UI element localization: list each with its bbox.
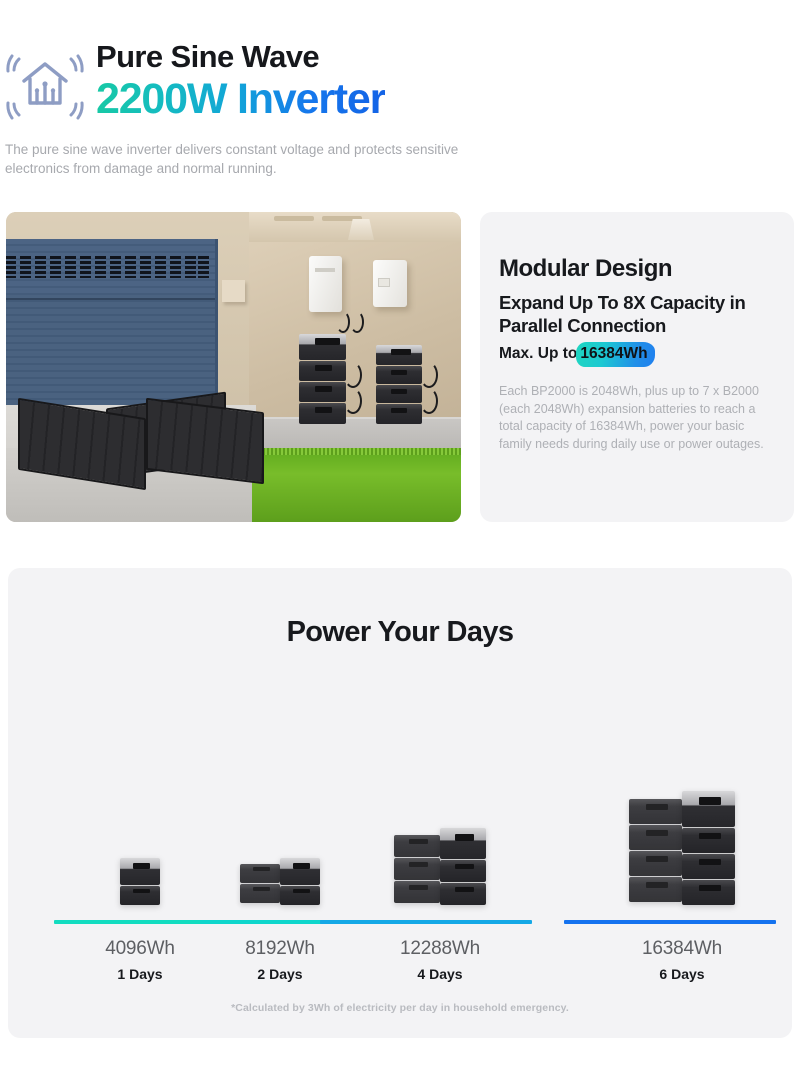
solar-panel-middle	[146, 398, 264, 484]
battery-unit	[440, 860, 486, 882]
garage-door-vents	[6, 256, 210, 278]
battery-display	[133, 889, 150, 893]
battery-stack-group	[562, 791, 800, 906]
battery-unit	[629, 851, 682, 876]
max-capacity-prefix: Max. Up to	[499, 345, 577, 363]
battery-unit	[682, 854, 735, 879]
capacity-bar	[320, 920, 532, 924]
battery-display	[253, 887, 270, 891]
modular-heading: Modular Design	[499, 255, 672, 283]
battery-display	[409, 885, 428, 890]
battery-unit	[240, 884, 280, 903]
power-days-footnote: *Calculated by 3Wh of electricity per da…	[8, 1002, 792, 1014]
battery-display	[133, 863, 150, 869]
hero-section: Pure Sine Wave 2200W Inverter The pure s…	[0, 0, 800, 200]
modular-design-card: Modular Design Expand Up To 8X Capacity …	[480, 212, 794, 522]
battery-stack-indoor-a	[299, 334, 346, 424]
battery-stack	[394, 835, 440, 904]
modular-subheading: Expand Up To 8X Capacity in Parallel Con…	[499, 291, 789, 337]
wall-inverter-secondary	[373, 260, 407, 307]
battery-stack	[440, 828, 486, 906]
battery-display	[455, 834, 474, 841]
modular-body-text: Each BP2000 is 2048Wh, plus up to 7 x B2…	[499, 383, 771, 453]
battery-display	[409, 862, 428, 867]
capacity-group: 16384Wh6 Days	[562, 787, 800, 920]
battery-unit	[682, 880, 735, 905]
battery-display	[646, 804, 668, 810]
battery-display	[699, 797, 721, 805]
battery-unit	[120, 886, 160, 905]
max-capacity-line: Max. Up to 16384Wh	[499, 345, 648, 363]
hero-title-block: Pure Sine Wave 2200W Inverter	[96, 38, 385, 124]
garage-door	[6, 239, 218, 405]
capacity-bar	[564, 920, 776, 924]
battery-display	[699, 885, 721, 891]
battery-display	[699, 859, 721, 865]
hero-title-line2: 2200W Inverter	[96, 74, 385, 124]
battery-display	[646, 882, 668, 888]
battery-unit	[440, 883, 486, 905]
max-capacity-highlight: 16384Wh	[580, 345, 647, 363]
battery-display	[293, 889, 310, 893]
battery-unit	[629, 799, 682, 824]
lifestyle-photo	[6, 212, 461, 522]
battery-unit	[394, 858, 440, 880]
battery-stack-indoor-b	[376, 345, 422, 424]
battery-display	[455, 887, 474, 892]
capacity-days-label: 4 Days	[320, 966, 560, 982]
battery-unit	[120, 858, 160, 885]
battery-unit	[440, 828, 486, 859]
smart-home-signal-icon	[6, 46, 84, 128]
hero-title-line1: Pure Sine Wave	[96, 38, 385, 76]
battery-unit	[394, 835, 440, 857]
hero-description: The pure sine wave inverter delivers con…	[5, 140, 525, 178]
wall-inverter-primary	[309, 256, 342, 312]
battery-stack	[120, 858, 160, 906]
battery-display	[253, 867, 270, 871]
capacity-days-label: 6 Days	[562, 966, 800, 982]
capacity-wh-label: 12288Wh	[320, 938, 560, 960]
battery-display	[455, 864, 474, 869]
battery-unit	[682, 791, 735, 827]
battery-display	[699, 833, 721, 839]
battery-unit	[280, 886, 320, 905]
max-capacity-value: 16384Wh	[580, 345, 647, 362]
battery-unit	[280, 858, 320, 885]
battery-unit	[682, 828, 735, 853]
battery-unit	[394, 881, 440, 903]
battery-display	[646, 830, 668, 836]
battery-display	[646, 856, 668, 862]
battery-unit	[629, 825, 682, 850]
battery-display	[293, 863, 310, 869]
battery-stack	[280, 858, 320, 906]
battery-unit	[629, 877, 682, 902]
power-your-days-card: Power Your Days 4096Wh1 Days8192Wh2 Days…	[8, 568, 792, 1038]
battery-stack	[240, 864, 280, 904]
battery-stack	[682, 791, 735, 906]
capacity-group: 12288Wh4 Days	[320, 823, 560, 920]
power-days-title: Power Your Days	[8, 616, 792, 649]
capacity-wh-label: 16384Wh	[562, 938, 800, 960]
product-feature-page: Pure Sine Wave 2200W Inverter The pure s…	[0, 0, 800, 1079]
battery-stack	[629, 799, 682, 903]
battery-stack-group	[320, 828, 560, 906]
battery-unit	[240, 864, 280, 883]
battery-display	[409, 839, 428, 844]
